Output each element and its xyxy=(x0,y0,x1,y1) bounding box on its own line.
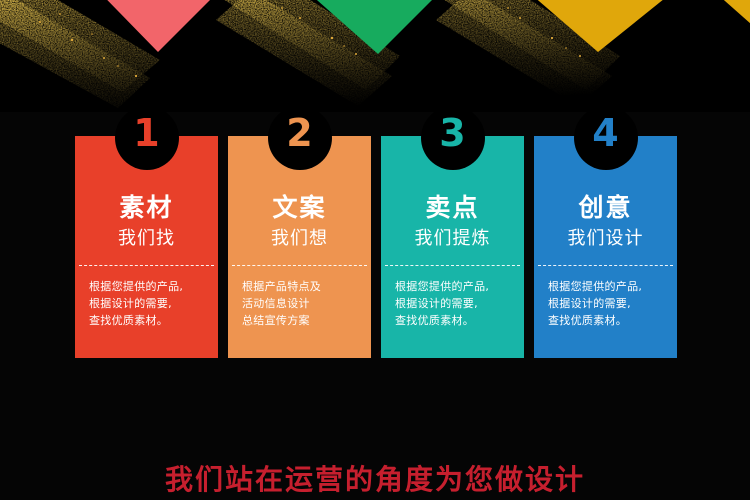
step-card-3[interactable]: 卖点 我们提炼 根据您提供的产品, 根据设计的需要, 查找优质素材。 3 xyxy=(381,136,524,358)
card-2-subtitle: 我们想 xyxy=(228,224,371,250)
card-4-title: 创意 xyxy=(534,188,677,224)
card-1-divider xyxy=(79,265,214,266)
step-card-4[interactable]: 创意 我们设计 根据您提供的产品, 根据设计的需要, 查找优质素材。 4 xyxy=(534,136,677,358)
card-2-divider xyxy=(232,265,367,266)
card-1-desc-line-3: 查找优质素材。 xyxy=(89,312,210,329)
card-3-number-badge: 3 xyxy=(421,106,485,170)
card-4-description: 根据您提供的产品, 根据设计的需要, 查找优质素材。 xyxy=(548,278,669,329)
card-1-title: 素材 xyxy=(75,188,218,224)
card-1-desc-line-2: 根据设计的需要, xyxy=(89,295,210,312)
step-card-1[interactable]: 素材 我们找 根据您提供的产品, 根据设计的需要, 查找优质素材。 1 xyxy=(75,136,218,358)
card-4-divider xyxy=(538,265,673,266)
card-4-number: 4 xyxy=(592,114,618,152)
card-2-number: 2 xyxy=(286,114,312,152)
card-4-desc-line-3: 查找优质素材。 xyxy=(548,312,669,329)
card-4-subtitle: 我们设计 xyxy=(534,224,677,250)
card-2-number-badge: 2 xyxy=(268,106,332,170)
banner-graphic xyxy=(0,0,750,112)
card-2-desc-line-2: 活动信息设计 xyxy=(242,295,363,312)
card-2-description: 根据产品特点及 活动信息设计 总结宣传方案 xyxy=(242,278,363,329)
card-3-description: 根据您提供的产品, 根据设计的需要, 查找优质素材。 xyxy=(395,278,516,329)
decorative-banner xyxy=(0,0,750,112)
card-1-subtitle: 我们找 xyxy=(75,224,218,250)
steps-row: 素材 我们找 根据您提供的产品, 根据设计的需要, 查找优质素材。 1 文案 我… xyxy=(0,112,750,362)
card-4-desc-line-1: 根据您提供的产品, xyxy=(548,278,669,295)
card-3-number: 3 xyxy=(439,114,465,152)
poster-canvas: 素材 我们找 根据您提供的产品, 根据设计的需要, 查找优质素材。 1 文案 我… xyxy=(0,0,750,500)
card-3-subtitle: 我们提炼 xyxy=(381,224,524,250)
card-1-description: 根据您提供的产品, 根据设计的需要, 查找优质素材。 xyxy=(89,278,210,329)
card-2-desc-line-1: 根据产品特点及 xyxy=(242,278,363,295)
card-3-desc-line-3: 查找优质素材。 xyxy=(395,312,516,329)
card-3-desc-line-1: 根据您提供的产品, xyxy=(395,278,516,295)
card-4-desc-line-2: 根据设计的需要, xyxy=(548,295,669,312)
card-2-desc-line-3: 总结宣传方案 xyxy=(242,312,363,329)
card-1-desc-line-1: 根据您提供的产品, xyxy=(89,278,210,295)
card-1-number-badge: 1 xyxy=(115,106,179,170)
step-card-2[interactable]: 文案 我们想 根据产品特点及 活动信息设计 总结宣传方案 2 xyxy=(228,136,371,358)
card-4-number-badge: 4 xyxy=(574,106,638,170)
card-3-divider xyxy=(385,265,520,266)
card-3-desc-line-2: 根据设计的需要, xyxy=(395,295,516,312)
card-2-title: 文案 xyxy=(228,188,371,224)
card-1-number: 1 xyxy=(133,114,159,152)
card-3-title: 卖点 xyxy=(381,188,524,224)
footer-headline: 我们站在运营的角度为您做设计 xyxy=(0,458,750,498)
